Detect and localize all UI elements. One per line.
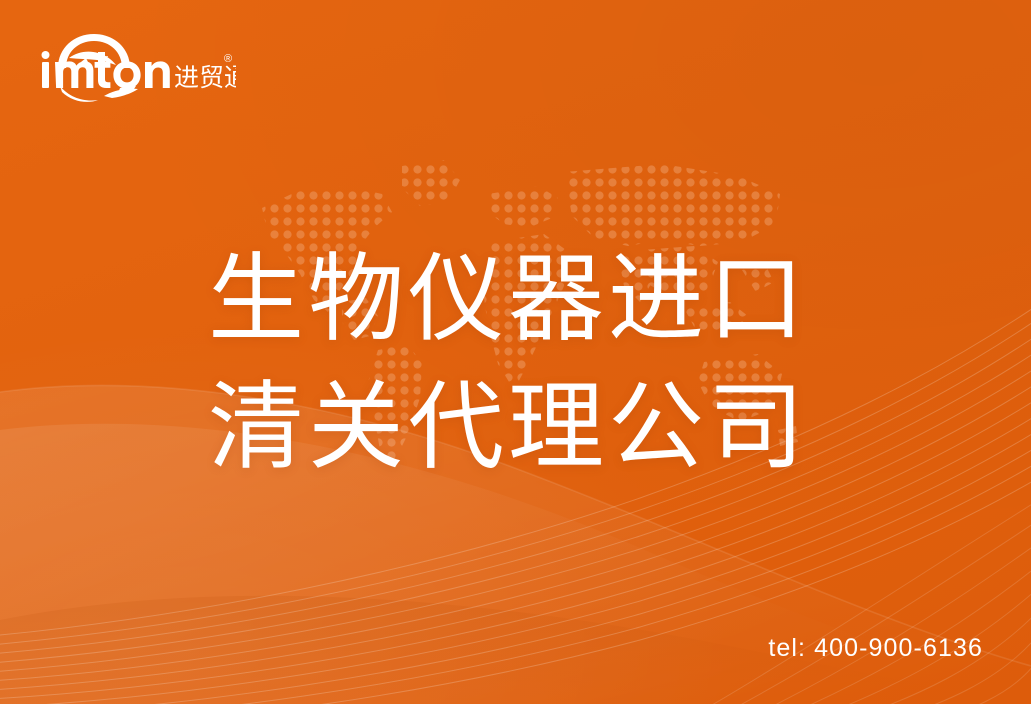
promo-banner: 进贸通 ® 生物仪器进口 清关代理公司 tel: 400-900-6136 [0, 0, 1031, 704]
company-logo[interactable]: 进贸通 ® [36, 30, 236, 102]
logo-chinese-name: 进贸通 [174, 63, 236, 92]
contact-phone[interactable]: tel: 400-900-6136 [768, 634, 983, 663]
page-title: 生物仪器进口 清关代理公司 [208, 236, 848, 492]
headline-line-2: 清关代理公司 [208, 364, 848, 492]
logo-trademark-symbol: ® [224, 53, 232, 65]
headline-line-1: 生物仪器进口 [208, 236, 848, 364]
